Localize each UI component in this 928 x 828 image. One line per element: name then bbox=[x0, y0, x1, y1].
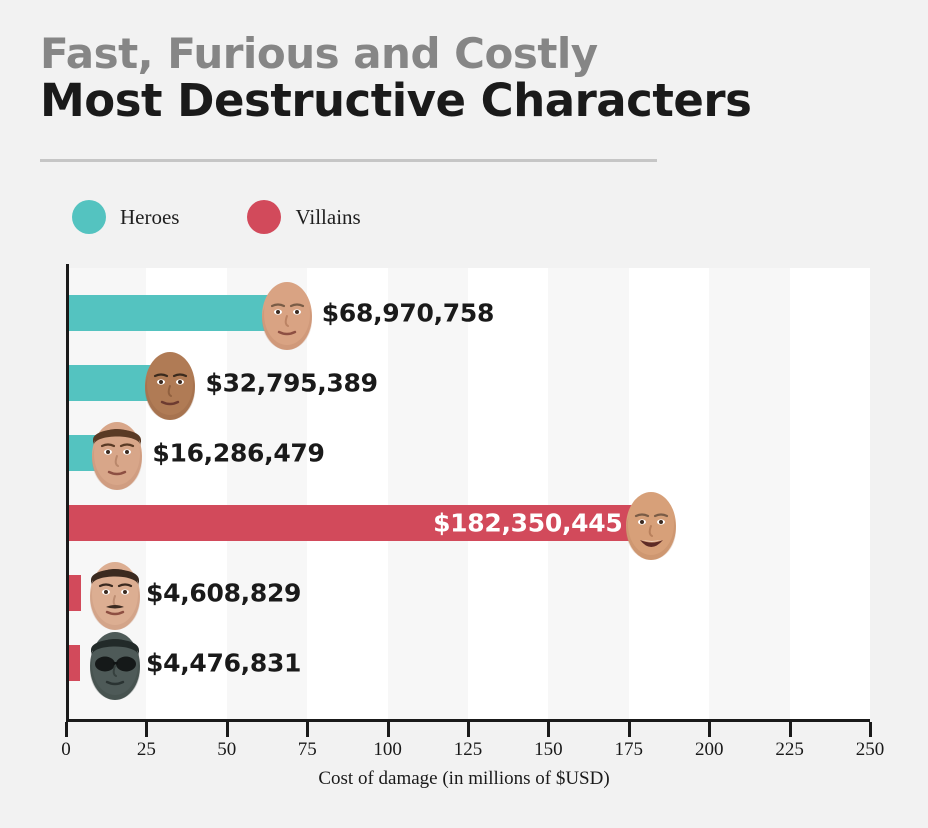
legend-label: Heroes bbox=[120, 205, 179, 230]
x-axis-tick bbox=[387, 722, 390, 737]
bar-heroes[interactable] bbox=[66, 295, 288, 331]
bar-row: $4,476,831 bbox=[66, 645, 870, 681]
header-divider bbox=[40, 159, 657, 162]
x-axis-tick bbox=[869, 722, 872, 737]
x-axis-tick bbox=[65, 722, 68, 737]
x-axis-tick-label: 50 bbox=[217, 739, 236, 761]
x-axis-tick-label: 175 bbox=[615, 739, 644, 761]
x-axis-tick-label: 150 bbox=[534, 739, 563, 761]
bar-row: $182,350,445 bbox=[66, 505, 870, 541]
x-axis-tick-label: 25 bbox=[137, 739, 156, 761]
x-axis-tick-label: 225 bbox=[775, 739, 804, 761]
character-portrait-dark-hair-mustache-man-face bbox=[84, 554, 146, 632]
x-axis-tick bbox=[547, 722, 550, 737]
x-axis-tick-label: 250 bbox=[856, 739, 885, 761]
x-axis-tick bbox=[789, 722, 792, 737]
legend-item-heroes: Heroes bbox=[72, 200, 179, 234]
x-axis-tick-label: 125 bbox=[454, 739, 483, 761]
bar-row: $16,286,479 bbox=[66, 435, 870, 471]
character-portrait-bald-man-light-skin-face bbox=[256, 274, 318, 352]
x-axis-tick bbox=[628, 722, 631, 737]
x-axis-tick-label: 75 bbox=[298, 739, 317, 761]
legend-item-villains: Villains bbox=[247, 200, 360, 234]
plot-area: $68,970,758 $32,795,389 $16, bbox=[66, 268, 870, 719]
x-axis-tick bbox=[708, 722, 711, 737]
bar-value-label: $182,350,445 bbox=[433, 509, 622, 538]
x-axis-tick bbox=[306, 722, 309, 737]
character-portrait-short-brown-hair-man-face bbox=[86, 414, 148, 492]
legend-swatch-villains-icon bbox=[247, 200, 281, 234]
bar-value-label: $32,795,389 bbox=[205, 369, 377, 398]
bar-rows: $68,970,758 $32,795,389 $16, bbox=[66, 268, 870, 719]
chart-subtitle: Fast, Furious and Costly bbox=[40, 32, 890, 76]
character-portrait-bald-laughing-man-face bbox=[620, 484, 682, 562]
bar-value-label: $4,608,829 bbox=[146, 579, 301, 608]
x-axis-tick bbox=[226, 722, 229, 737]
bar-row: $68,970,758 bbox=[66, 295, 870, 331]
character-portrait-bald-man-medium-skin-face bbox=[139, 344, 201, 422]
x-axis-tick-label: 100 bbox=[373, 739, 402, 761]
bar-row: $4,608,829 bbox=[66, 575, 870, 611]
x-axis-label: Cost of damage (in millions of $USD) bbox=[0, 768, 928, 790]
legend-label: Villains bbox=[295, 205, 360, 230]
chart-header: Fast, Furious and Costly Most Destructiv… bbox=[40, 32, 890, 126]
x-axis-tick bbox=[145, 722, 148, 737]
y-axis-line bbox=[66, 264, 69, 719]
x-axis-tick-label: 0 bbox=[61, 739, 71, 761]
character-portrait-sunglasses-man-face bbox=[84, 624, 146, 702]
bar-value-label: $68,970,758 bbox=[322, 299, 494, 328]
chart-legend: HeroesVillains bbox=[72, 200, 361, 234]
bar-row: $32,795,389 bbox=[66, 365, 870, 401]
page-title: Most Destructive Characters bbox=[40, 76, 890, 126]
x-axis-ticks: 0255075100125150175200225250 bbox=[66, 722, 870, 768]
x-axis-tick bbox=[467, 722, 470, 737]
x-axis-tick-label: 200 bbox=[695, 739, 724, 761]
bar-value-label: $16,286,479 bbox=[152, 439, 324, 468]
bar-value-label: $4,476,831 bbox=[146, 649, 301, 678]
legend-swatch-heroes-icon bbox=[72, 200, 106, 234]
